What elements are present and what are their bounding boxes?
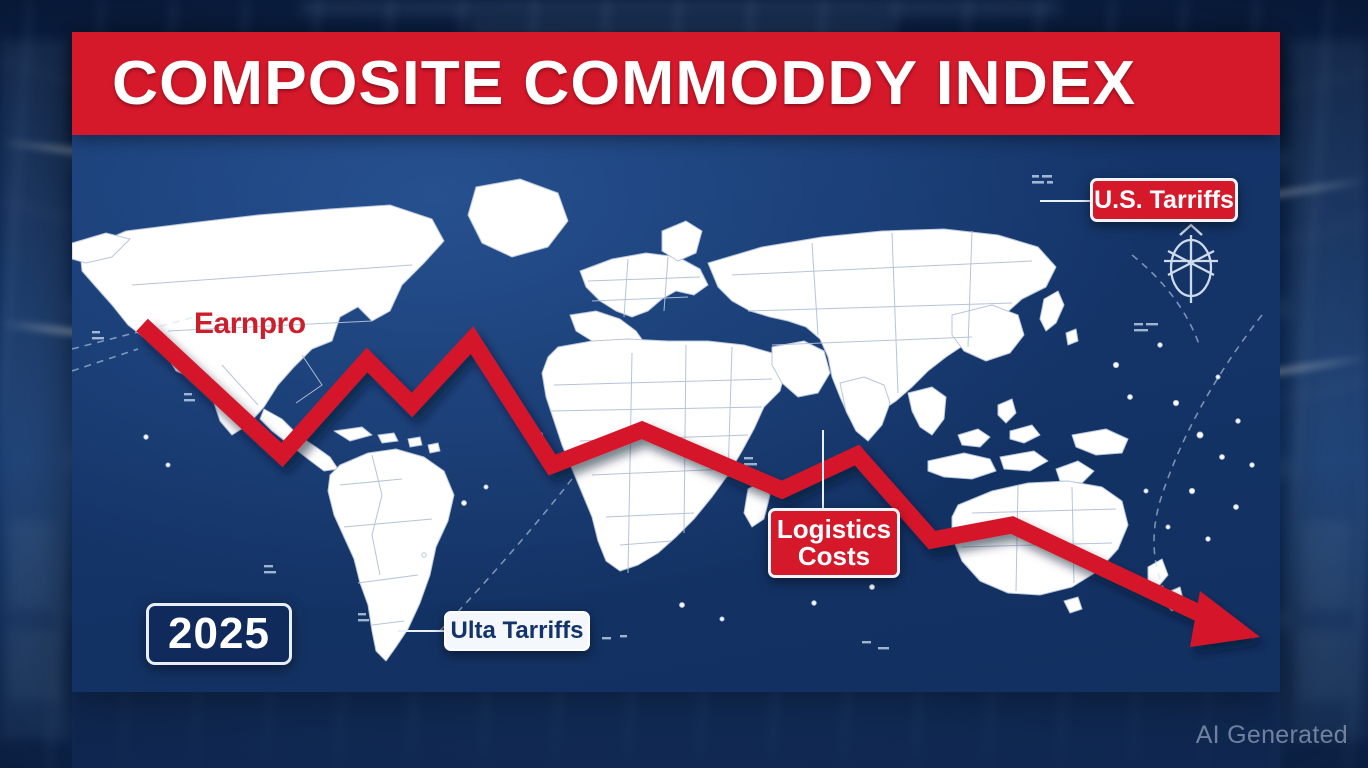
connector-ulta-tariffs bbox=[398, 630, 446, 632]
screenshot-root: COMPOSITE COMMODDY INDEX U.S. Tarriffs L… bbox=[0, 0, 1368, 768]
compass-rose-icon bbox=[1164, 225, 1218, 303]
label-earnpro: Earnpro bbox=[194, 307, 306, 341]
trend-arrowhead bbox=[1190, 591, 1260, 647]
ai-generated-watermark: AI Generated bbox=[1196, 721, 1348, 750]
panel-reflection: 2025 Ulta Tarriffs bbox=[72, 692, 1280, 768]
label-us-tariffs-text: U.S. Tarriffs bbox=[1094, 186, 1234, 215]
label-ulta-tariffs-text: Ulta Tarriffs bbox=[451, 617, 584, 645]
label-logistics-line2: Costs bbox=[798, 543, 870, 570]
connector-logistics bbox=[822, 430, 824, 510]
label-us-tariffs[interactable]: U.S. Tarriffs bbox=[1090, 178, 1238, 222]
connector-us-tariffs bbox=[1040, 200, 1094, 202]
label-logistics-costs[interactable]: Logistics Costs bbox=[768, 508, 900, 578]
label-year-text: 2025 bbox=[168, 609, 270, 659]
title-banner: COMPOSITE COMMODDY INDEX bbox=[72, 32, 1280, 135]
page-title: COMPOSITE COMMODDY INDEX bbox=[112, 48, 1136, 119]
label-year[interactable]: 2025 bbox=[146, 603, 292, 665]
label-logistics-line1: Logistics bbox=[777, 516, 891, 543]
label-ulta-tariffs[interactable]: Ulta Tarriffs bbox=[444, 611, 590, 651]
reflection-fade-overlay bbox=[72, 692, 1280, 768]
